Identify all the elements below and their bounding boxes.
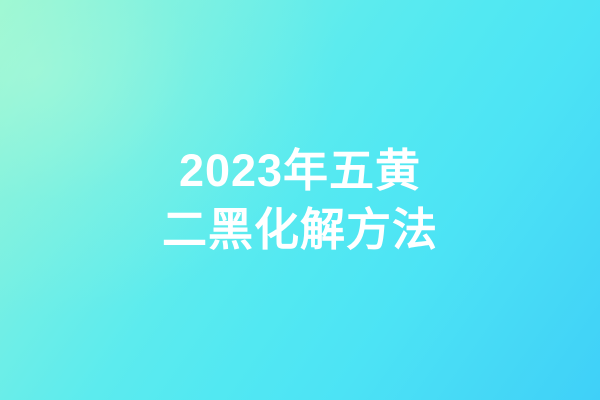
title-line-2: 二黑化解方法 xyxy=(0,207,600,252)
background-gradient-wash xyxy=(0,0,600,400)
banner-graphic: 2023年五黄 二黑化解方法 xyxy=(0,0,600,400)
title-block: 2023年五黄 二黑化解方法 xyxy=(0,148,600,252)
title-line-1: 2023年五黄 xyxy=(0,148,600,193)
